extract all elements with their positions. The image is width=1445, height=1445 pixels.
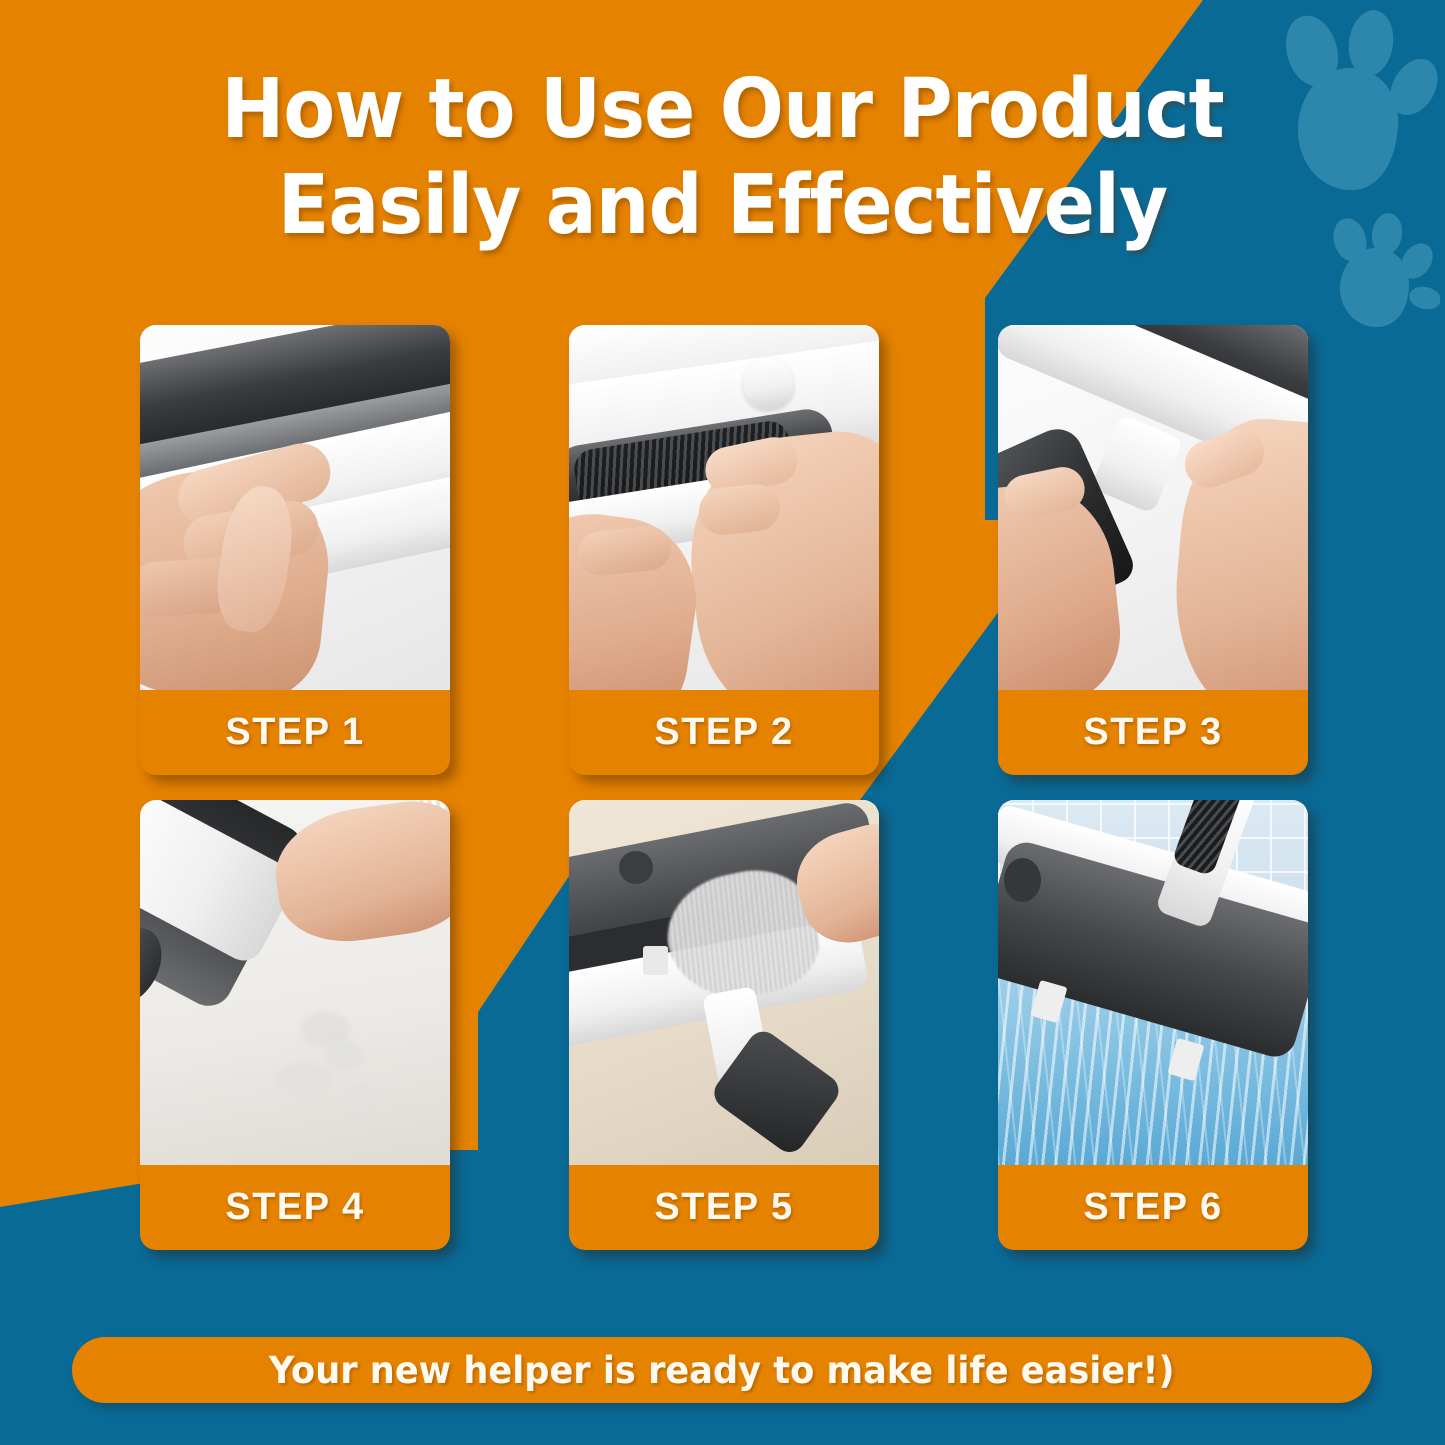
- step-photo-5: [569, 800, 879, 1165]
- step-label-3: STEP 3: [998, 690, 1308, 775]
- step-label-1: STEP 1: [140, 690, 450, 775]
- infographic-canvas: How to Use Our Product Easily and Effect…: [0, 0, 1445, 1445]
- paw-print-icon-small: [1328, 212, 1440, 330]
- footer-banner-text: Your new helper is ready to make life ea…: [269, 1349, 1175, 1392]
- step-label-6: STEP 6: [998, 1165, 1308, 1250]
- step-card-4[interactable]: STEP 4: [140, 800, 450, 1250]
- footer-banner: Your new helper is ready to make life ea…: [72, 1337, 1372, 1403]
- paw-print-icon-large: [1278, 8, 1443, 208]
- step-photo-3: [998, 325, 1308, 690]
- step-photo-1: [140, 325, 450, 690]
- step-label-4: STEP 4: [140, 1165, 450, 1250]
- step-label-2: STEP 2: [569, 690, 879, 775]
- step-card-6[interactable]: STEP 6: [998, 800, 1308, 1250]
- step-photo-4: [140, 800, 450, 1165]
- step-label-5: STEP 5: [569, 1165, 879, 1250]
- step-card-3[interactable]: STEP 3: [998, 325, 1308, 775]
- step-photo-2: [569, 325, 879, 690]
- step-card-5[interactable]: STEP 5: [569, 800, 879, 1250]
- steps-grid: STEP 1 STEP 2: [140, 325, 1308, 1250]
- step-card-1[interactable]: STEP 1: [140, 325, 450, 775]
- step-photo-6: [998, 800, 1308, 1165]
- step-card-2[interactable]: STEP 2: [569, 325, 879, 775]
